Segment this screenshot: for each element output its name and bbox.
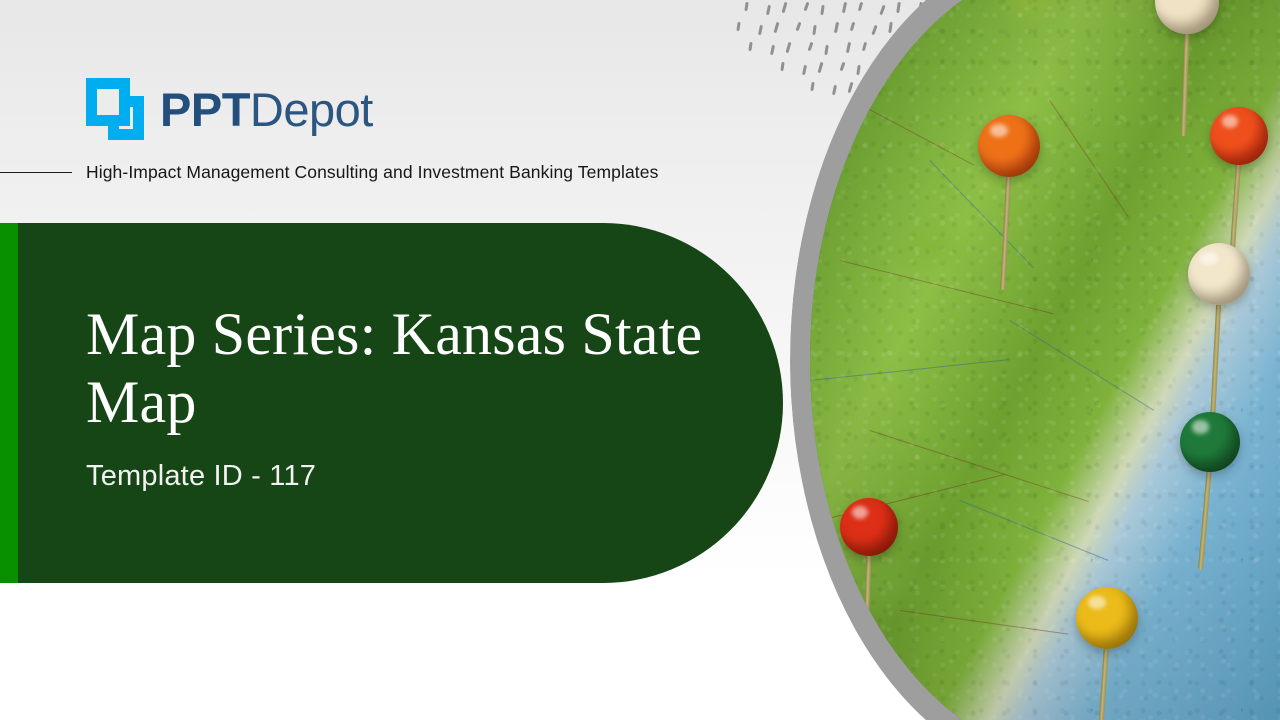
tick-mark-icon xyxy=(748,42,752,51)
map-image-panel xyxy=(790,0,1280,720)
tagline-rule xyxy=(0,172,72,173)
map-photo xyxy=(810,0,1280,720)
tick-mark-icon xyxy=(744,2,748,11)
pin-yellow xyxy=(1076,587,1138,720)
tick-mark-icon xyxy=(786,42,792,53)
tick-mark-icon xyxy=(736,22,740,31)
tick-mark-icon xyxy=(780,62,784,71)
ppt-depot-logo-icon xyxy=(86,78,144,140)
tick-mark-icon xyxy=(766,5,771,15)
tick-mark-icon xyxy=(804,2,810,11)
pin-orange xyxy=(978,115,1040,307)
brand-name-light: Depot xyxy=(250,83,373,136)
tagline: High-Impact Management Consulting and In… xyxy=(0,162,658,183)
tick-mark-icon xyxy=(802,65,807,75)
logo-knockout xyxy=(97,89,119,115)
tick-mark-icon xyxy=(758,25,763,35)
tagline-text: High-Impact Management Consulting and In… xyxy=(86,162,658,183)
tick-mark-icon xyxy=(770,45,775,55)
tick-mark-icon xyxy=(782,2,788,13)
pin-head xyxy=(1210,107,1268,165)
template-id-subtitle: Template ID - 117 xyxy=(86,459,706,494)
accent-bar xyxy=(0,223,18,583)
pin-green xyxy=(1180,412,1240,587)
brand-wordmark: PPTDepot xyxy=(160,86,373,133)
pin-needle xyxy=(1000,159,1012,289)
tick-mark-icon xyxy=(796,22,802,31)
pin-needle xyxy=(1180,16,1189,136)
pin-head xyxy=(1076,587,1138,649)
pin-head xyxy=(978,115,1040,177)
slide-canvas: Map Series: Kansas State Map Template ID… xyxy=(0,0,1280,720)
pin-head xyxy=(1188,243,1250,305)
pin-head xyxy=(840,498,898,556)
map-photo-clip xyxy=(810,0,1280,720)
brand-logo[interactable]: PPTDepot xyxy=(86,78,373,140)
brand-name-bold: PPT xyxy=(160,83,250,136)
pin-head xyxy=(1155,0,1219,34)
tick-mark-icon xyxy=(774,22,780,33)
pin-needle xyxy=(1197,455,1212,570)
page-title: Map Series: Kansas State Map xyxy=(86,300,706,437)
pin-head xyxy=(1180,412,1240,472)
title-block: Map Series: Kansas State Map Template ID… xyxy=(86,300,706,494)
pin-red-edge xyxy=(840,498,898,646)
